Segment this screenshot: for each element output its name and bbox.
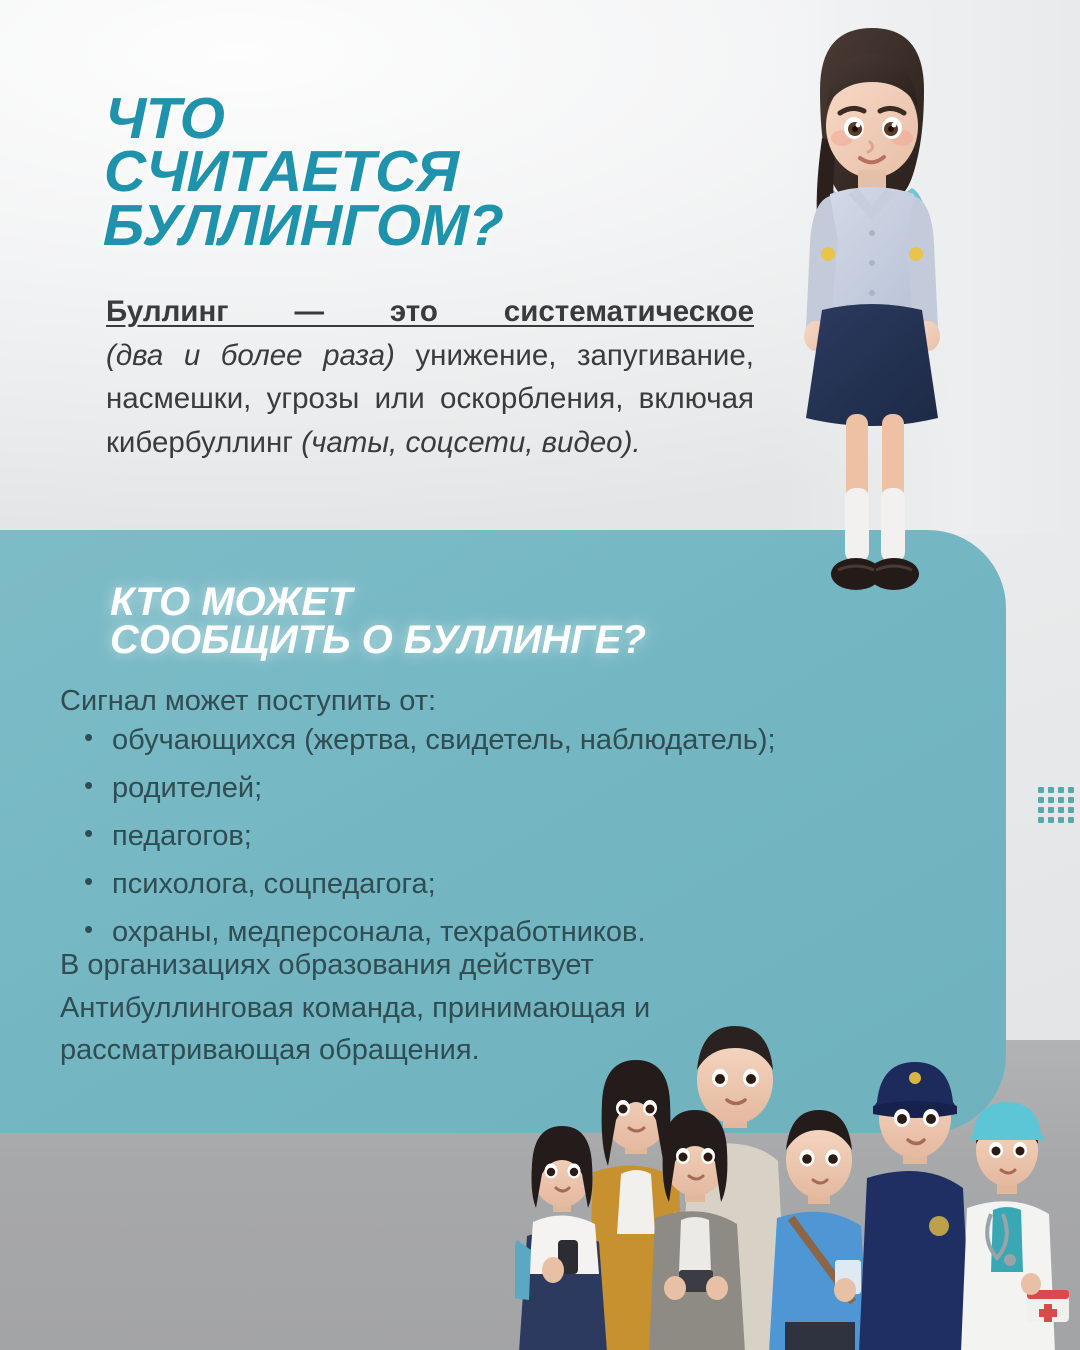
schoolgirl-illustration: [760, 18, 1000, 630]
signal-lead-line: Сигнал может поступить от:: [60, 682, 436, 721]
reporters-list: обучающихся (жертва, свидетель, наблюдат…: [78, 726, 978, 966]
list-item: педагогов;: [78, 822, 978, 851]
list-item: родителей;: [78, 774, 978, 803]
intro-paragraph: Буллинг — это систематическое(два и боле…: [106, 290, 754, 465]
intro-italic-tail: (чаты, соцсети, видео).: [301, 426, 640, 459]
antibullying-team-note: В организациях образования действует Ант…: [60, 944, 860, 1072]
list-item: охраны, медперсонала, техработников.: [78, 918, 978, 947]
list-item: обучающихся (жертва, свидетель, наблюдат…: [78, 726, 978, 755]
dot-grid-icon: [1038, 787, 1074, 823]
section-two-title: КТО МОЖЕТ СООБЩИТЬ О БУЛЛИНГЕ?: [110, 583, 646, 660]
poster-canvas: ЧТО СЧИТАЕТСЯ БУЛЛИНГОМ? Буллинг — это с…: [0, 0, 1080, 1350]
list-item: психолога, соцпедагога;: [78, 870, 978, 899]
intro-italic-note: (два и более раза): [106, 339, 395, 372]
page-title: ЧТО СЧИТАЕТСЯ БУЛЛИНГОМ?: [103, 92, 506, 252]
intro-lead: Буллинг — это систематическое: [106, 295, 754, 328]
